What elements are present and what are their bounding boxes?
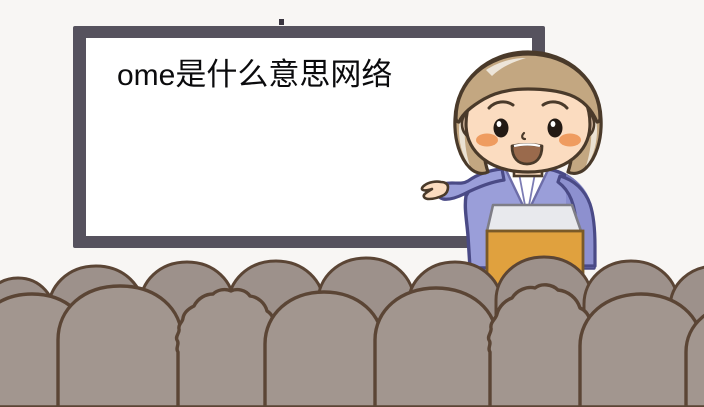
teacher-eye-right <box>548 119 563 138</box>
audience-head-front <box>58 286 182 407</box>
whiteboard-text: ome是什么意思网络 <box>117 57 392 94</box>
teacher-blush-right <box>559 134 581 147</box>
lectern-paper <box>487 205 581 231</box>
audience-head-front <box>375 288 497 407</box>
audience-head-front <box>265 292 383 407</box>
classroom-illustration: ome是什么意思网络 <box>0 0 704 407</box>
whiteboard-text-cjk: 是什么意思网络 <box>175 57 392 93</box>
teacher-pointing-hand <box>422 182 448 199</box>
audience-head-front-curly <box>489 285 593 407</box>
teacher-mouth <box>512 145 542 165</box>
teacher-eye-left <box>494 119 509 138</box>
audience-head-front <box>580 294 702 407</box>
whiteboard-text-latin: ome <box>117 59 175 92</box>
teacher-blush-left <box>476 134 498 147</box>
teacher-eye-highlight-right <box>551 121 556 127</box>
audience-head-front-curly <box>177 290 277 407</box>
whiteboard-marker-dot <box>279 19 284 25</box>
teacher-eye-highlight-left <box>497 121 502 127</box>
